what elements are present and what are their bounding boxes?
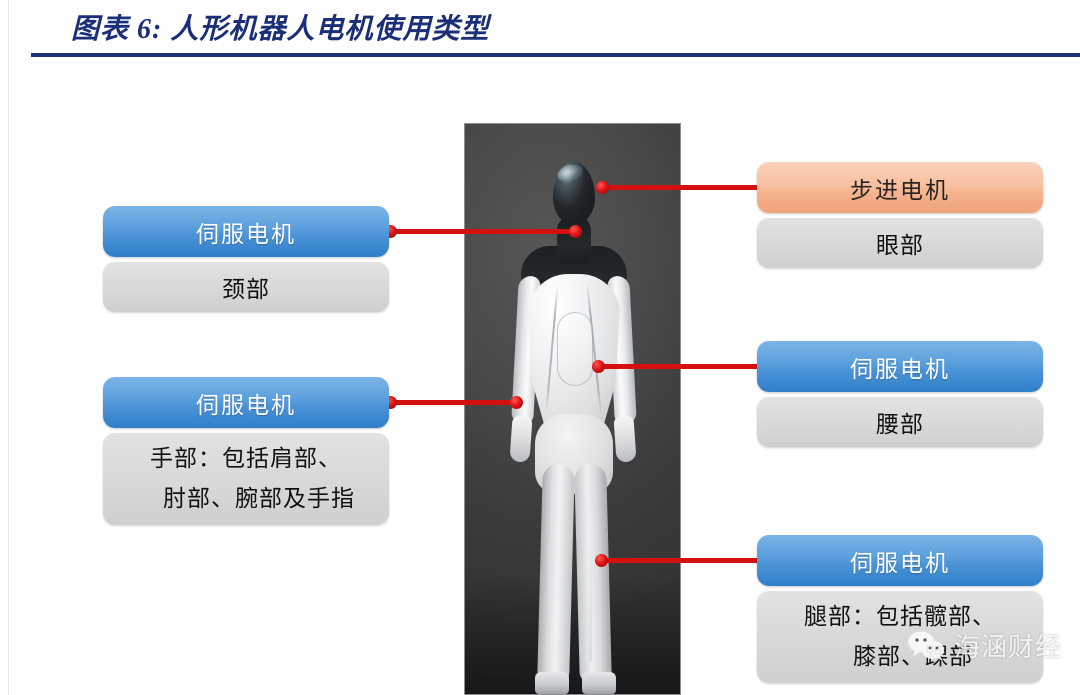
callout-card-neck[interactable]: 伺服电机 颈部	[103, 206, 389, 312]
connector-line-hand	[390, 400, 518, 405]
callout-card-waist[interactable]: 伺服电机 腰部	[757, 341, 1043, 447]
robot-leg-right	[574, 464, 612, 683]
callout-body-hand: 手部：包括肩部、 肘部、腕部及手指	[103, 433, 389, 525]
robot-foot-left	[535, 672, 569, 694]
page-title: 图表 6: 人形机器人电机使用类型	[71, 7, 489, 47]
callout-header-eye: 步进电机	[757, 162, 1043, 213]
robot-chest-panel	[557, 312, 593, 386]
robot-hand-right	[613, 415, 636, 462]
callout-body-text-leg-line1: 腿部：包括髋部、	[804, 597, 996, 637]
title-divider	[31, 53, 1080, 57]
callout-body-leg: 腿部：包括髋部、 膝部、踝部	[757, 591, 1043, 683]
callout-header-waist: 伺服电机	[757, 341, 1043, 392]
page-frame: 图表 6: 人形机器人电机使用类型	[8, 0, 1079, 695]
photo-floor-shadow	[465, 574, 680, 694]
connector-line-neck	[390, 229, 576, 234]
callout-body-text-waist: 腰部	[876, 405, 924, 439]
callout-card-eye[interactable]: 步进电机 眼部	[757, 162, 1043, 268]
callout-body-text-neck: 颈部	[222, 270, 270, 304]
callout-body-text-hand-line2: 肘部、腕部及手指	[163, 479, 355, 519]
callout-card-hand[interactable]: 伺服电机 手部：包括肩部、 肘部、腕部及手指	[103, 377, 389, 525]
callout-header-leg: 伺服电机	[757, 535, 1043, 586]
callout-body-neck: 颈部	[103, 262, 389, 312]
connector-dot-robot-leg	[595, 554, 608, 567]
connector-dot-robot-waist	[592, 360, 605, 373]
callout-body-text-eye: 眼部	[876, 226, 924, 260]
robot-leg-left	[537, 464, 575, 683]
callout-card-leg[interactable]: 伺服电机 腿部：包括髋部、 膝部、踝部	[757, 535, 1043, 683]
callout-body-waist: 腰部	[757, 397, 1043, 447]
callout-header-neck: 伺服电机	[103, 206, 389, 257]
connector-line-eye	[602, 185, 764, 190]
robot-foot-right	[582, 672, 616, 694]
callout-body-text-leg-line2: 膝部、踝部	[853, 637, 973, 677]
robot-knee-seam	[589, 544, 592, 662]
connector-line-waist	[598, 364, 764, 369]
callout-header-hand: 伺服电机	[103, 377, 389, 428]
robot-hand-left	[509, 415, 532, 462]
callout-body-text-hand-line1: 手部：包括肩部、	[150, 439, 342, 479]
connector-dot-robot-eye	[596, 181, 609, 194]
humanoid-robot-photo	[464, 123, 681, 695]
connector-dot-robot-neck	[569, 225, 582, 238]
connector-dot-robot-hand	[510, 396, 523, 409]
callout-body-eye: 眼部	[757, 218, 1043, 268]
connector-line-leg	[601, 558, 764, 563]
